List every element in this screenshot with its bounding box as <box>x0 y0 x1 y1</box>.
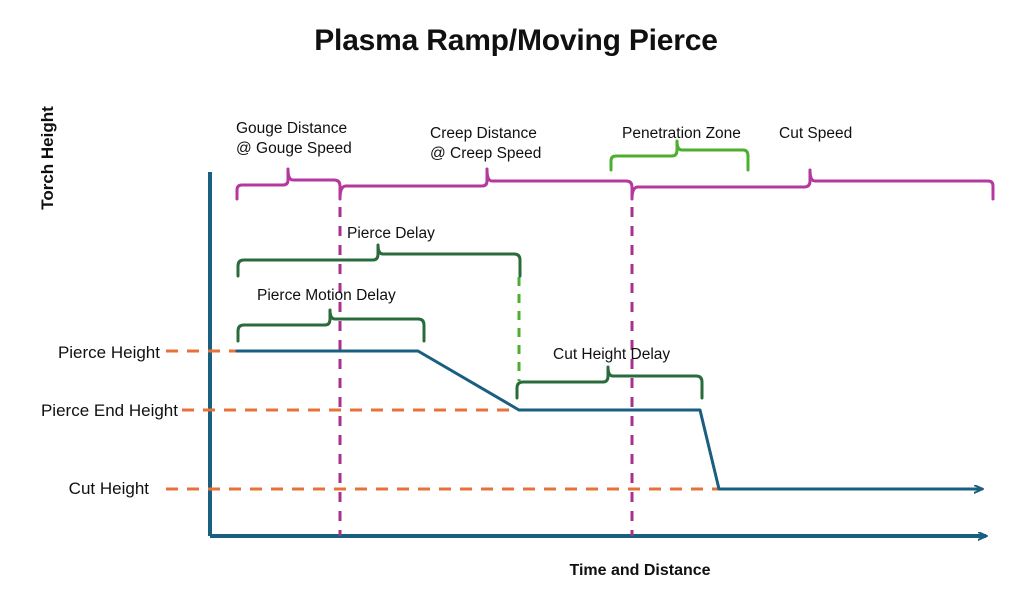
plasma-ramp-chart-svg <box>0 0 1032 596</box>
annotation-pierce-delay: Pierce Delay <box>347 224 435 244</box>
y-level-label-cut-height: Cut Height <box>0 479 149 499</box>
annotation-penetration-zone: Penetration Zone <box>622 124 741 144</box>
speed-phase-brace <box>237 169 993 199</box>
x-axis-label: Time and Distance <box>416 562 864 580</box>
pierce-motion-delay-brace-path <box>238 310 424 341</box>
cut-height-delay-brace-path <box>517 367 702 398</box>
penetration-brace-path <box>611 141 748 170</box>
y-level-label-pierce-height: Pierce Height <box>0 343 160 363</box>
pierce-delay-brace <box>238 245 520 276</box>
pierce-motion-delay-brace <box>238 310 424 341</box>
page-title: Plasma Ramp/Moving Pierce <box>0 24 1032 58</box>
y-level-label-pierce-end-height: Pierce End Height <box>0 401 178 421</box>
annotation-cut-height-delay: Cut Height Delay <box>553 345 670 365</box>
diagram-canvas: Plasma Ramp/Moving Pierce Torch Height T… <box>0 0 1032 596</box>
height-level-lines <box>166 351 722 489</box>
cut-height-delay-brace <box>517 367 702 398</box>
annotation-creep-distance: Creep Distance @ Creep Speed <box>430 124 541 164</box>
speed-brace-path <box>237 169 993 199</box>
pierce-delay-brace-path <box>238 245 520 276</box>
penetration-zone-brace <box>611 141 748 170</box>
annotation-cut-speed: Cut Speed <box>779 124 852 144</box>
annotation-pierce-motion-delay: Pierce Motion Delay <box>257 286 396 306</box>
annotation-gouge-distance: Gouge Distance @ Gouge Speed <box>236 119 352 159</box>
y-axis-label: Torch Height <box>38 68 58 248</box>
